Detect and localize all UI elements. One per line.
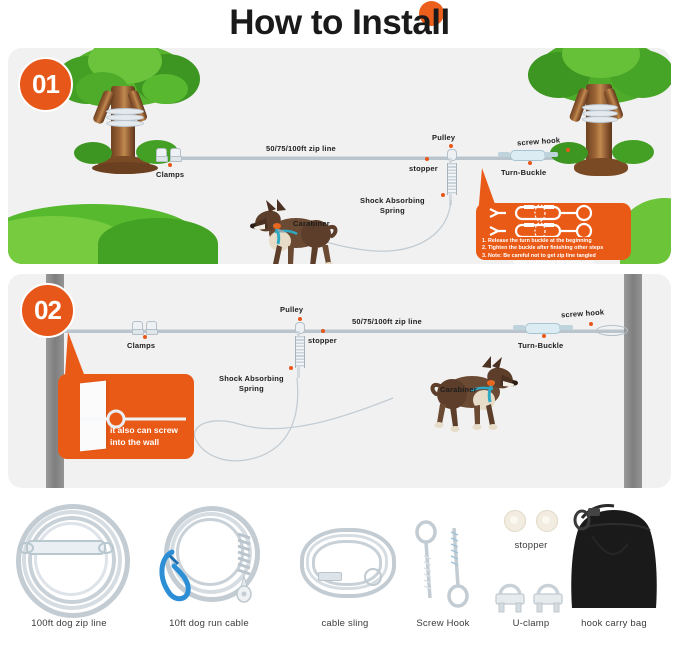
callout-line-3: 3. Note: Be careful not to get zip line … (482, 253, 627, 260)
dog-illustration (244, 198, 338, 264)
pulley-marker-dot (298, 317, 302, 321)
product-cable-sling: cable sling (290, 506, 400, 629)
product-screw-hook: Screw Hook (398, 506, 488, 629)
label-clamps: Clamps (156, 170, 184, 179)
label-shock-spring: Shock Absorbing Spring (219, 374, 284, 394)
step-badge-01: 01 (18, 57, 73, 112)
turn-buckle-hardware (498, 149, 560, 161)
label-stopper: stopper (308, 336, 337, 345)
wall-callout-line-1: it also can screw (110, 424, 178, 436)
label-carabiner: Carabiner (440, 385, 477, 394)
turnbuckle-marker-dot (528, 161, 532, 165)
pulley-marker-dot (449, 144, 453, 148)
tree-right (528, 48, 671, 213)
page-title: How to Install (0, 0, 679, 46)
turnbuckle-callout: 1. Release the turn buckle at the beginn… (476, 203, 631, 260)
title-text: How to Install (229, 3, 450, 42)
pulley-hardware (293, 322, 305, 336)
label-zip-line: 50/75/100ft zip line (352, 317, 422, 326)
wall-post-right (624, 274, 642, 488)
label-pulley: Pulley (432, 133, 455, 142)
label-zip-line: 50/75/100ft zip line (266, 144, 336, 153)
product-caption: Screw Hook (398, 618, 488, 629)
screwhook-marker-dot (566, 148, 570, 152)
label-shock-spring: Shock Absorbing Spring (360, 196, 425, 216)
product-caption: 10ft dog run cable (144, 618, 274, 629)
label-screw-hook: screw hook (561, 308, 605, 320)
product-caption: 100ft dog zip line (4, 618, 134, 629)
label-shock-spring-line2: Spring (219, 384, 284, 394)
tree-left (56, 48, 206, 204)
product-caption: cable sling (290, 618, 400, 629)
label-pulley: Pulley (280, 305, 303, 314)
clamp-hardware (132, 321, 158, 333)
label-stopper: stopper (409, 164, 438, 173)
screwhook-marker-dot (589, 322, 593, 326)
bush-foreground-3 (98, 218, 218, 264)
clamps-marker-dot (143, 335, 147, 339)
wall-callout-line-2: into the wall (110, 436, 178, 448)
pulley-hardware (445, 149, 457, 163)
spring-marker-dot (441, 193, 445, 197)
callout-line-4: when tightening the turnbuckle. (482, 260, 627, 264)
product-caption: hook carry bag (552, 618, 676, 629)
label-shock-spring-line2: Spring (360, 206, 425, 216)
stopper-marker-dot (425, 157, 429, 161)
clamps-marker-dot (168, 163, 172, 167)
label-turn-buckle: Turn-Buckle (518, 341, 563, 350)
turnbuckle-marker-dot (542, 334, 546, 338)
product-zip-line: 100ft dog zip line (4, 496, 134, 629)
label-carabiner: Carabiner (293, 219, 330, 228)
callout-line-2: 2. Tighten the buckle after finishing ot… (482, 245, 627, 252)
step-badge-02: 02 (20, 283, 75, 338)
end-loop-hardware (596, 324, 630, 336)
product-carry-bag: hook carry bag (552, 496, 676, 629)
product-run-cable: 10ft dog run cable (144, 496, 274, 629)
wall-mount-callout: it also can screw into the wall (58, 374, 194, 459)
label-shock-spring-line1: Shock Absorbing (219, 374, 284, 384)
stopper-marker-dot (321, 329, 325, 333)
callout-line-1: 1. Release the turn buckle at the beginn… (482, 238, 627, 245)
spring-marker-dot (289, 366, 293, 370)
product-contents-row: 100ft dog zip line 10ft dog run cable (0, 492, 679, 645)
label-clamps: Clamps (127, 341, 155, 350)
dog-illustration (426, 354, 526, 439)
clamp-hardware (156, 148, 182, 160)
label-shock-spring-line1: Shock Absorbing (360, 196, 425, 206)
turn-buckle-hardware (513, 322, 575, 334)
install-step-1-panel: Clamps 50/75/100ft zip line stopper Pull… (8, 48, 671, 264)
install-step-2-panel: Clamps Pulley stopper 50/75/100ft zip li… (8, 274, 671, 488)
